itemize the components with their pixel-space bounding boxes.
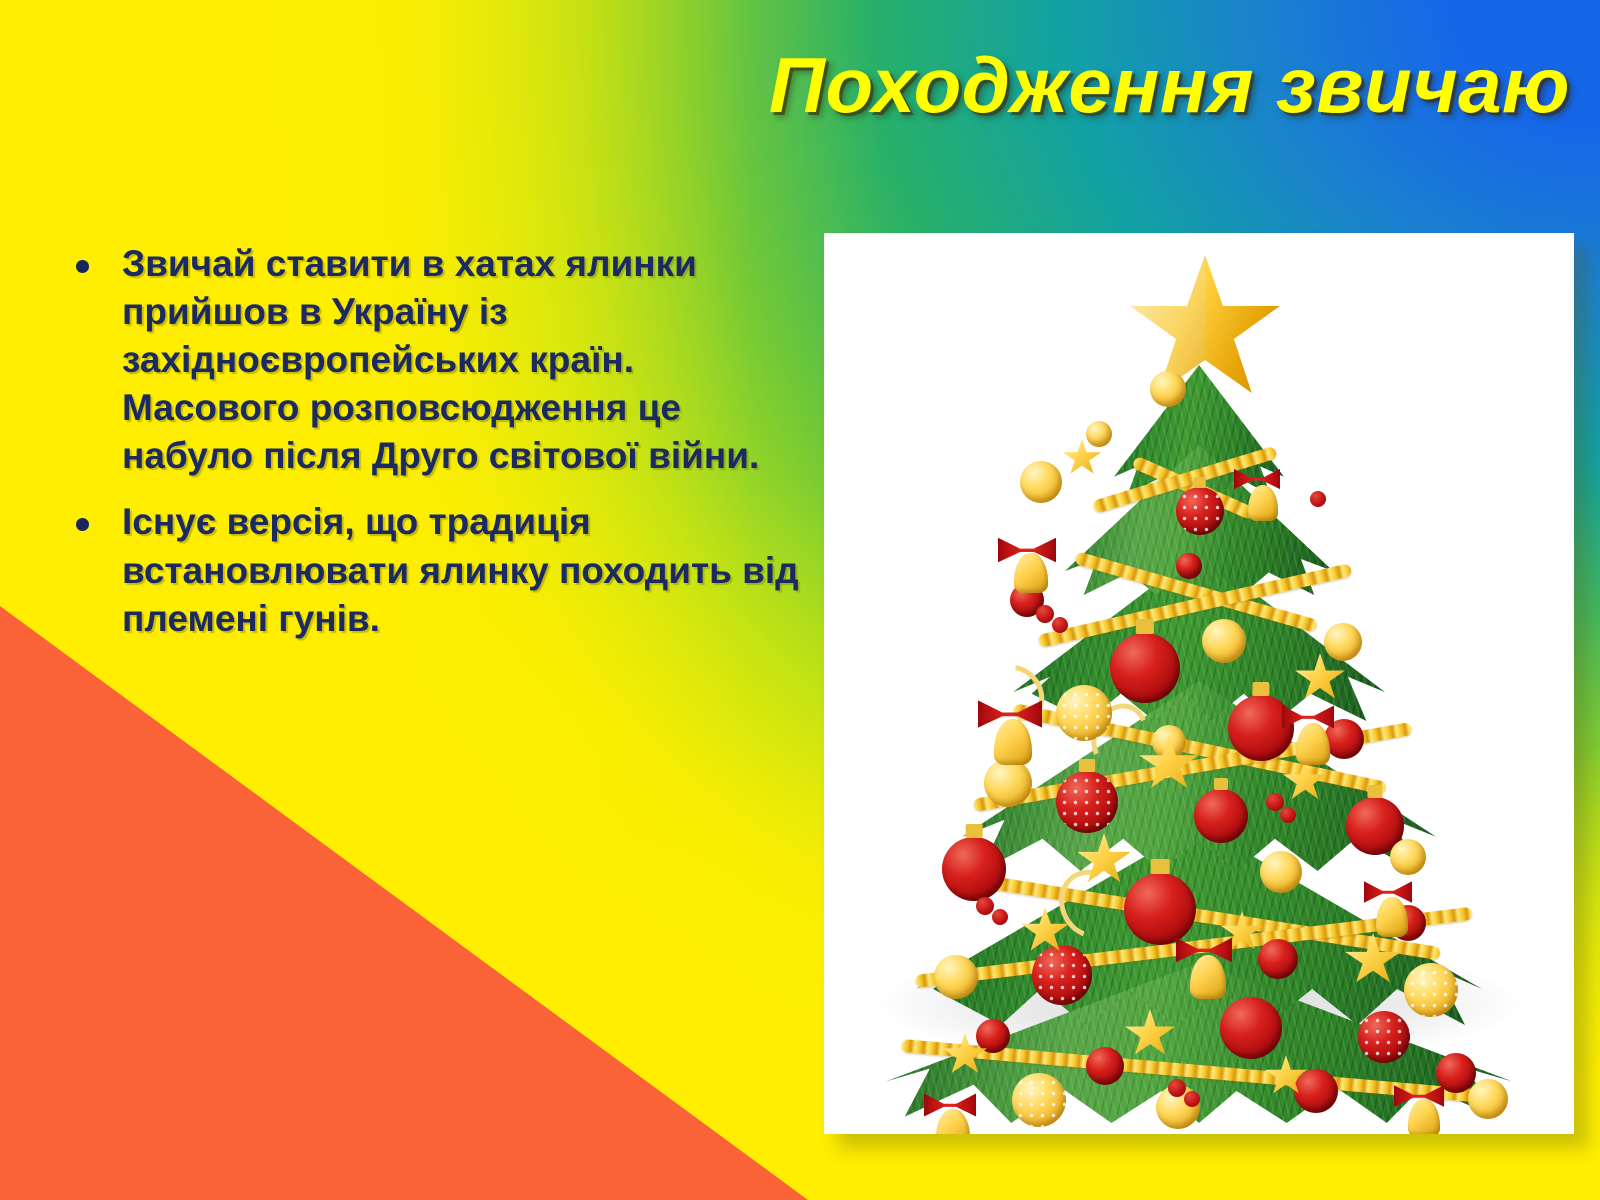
- gold-bell-ornament: [1248, 485, 1278, 521]
- red-bauble: [1086, 1047, 1124, 1085]
- gold-bauble: [1020, 461, 1062, 503]
- gold-bauble: [934, 955, 978, 999]
- gold-bauble: [1012, 1073, 1066, 1127]
- gold-bauble: [1390, 839, 1426, 875]
- slide: Походження звичаю Звичай ставити в хатах…: [0, 0, 1600, 1200]
- bullet-point-icon: [60, 240, 122, 273]
- slide-title: Походження звичаю: [640, 46, 1570, 126]
- gold-bauble: [1324, 623, 1362, 661]
- list-item: Існує версія, що традиція встановлювати …: [60, 498, 800, 642]
- christmas-tree-graphic: [824, 233, 1574, 1134]
- red-berry: [1168, 1079, 1186, 1097]
- gold-bauble: [984, 759, 1032, 807]
- red-bauble: [1194, 789, 1248, 843]
- red-berry: [1266, 793, 1284, 811]
- red-bauble: [976, 1019, 1010, 1053]
- gold-bell-ornament: [1296, 723, 1330, 765]
- red-berry: [976, 897, 994, 915]
- red-bauble: [1056, 771, 1118, 833]
- red-bauble: [1228, 695, 1294, 761]
- red-berry: [1310, 491, 1326, 507]
- red-bauble: [1176, 553, 1202, 579]
- red-berry: [1036, 605, 1054, 623]
- bullet-point-icon: [60, 498, 122, 531]
- red-bauble: [1176, 487, 1224, 535]
- christmas-tree-image: [824, 233, 1574, 1134]
- gold-bell-ornament: [1376, 897, 1408, 937]
- gold-bauble: [1404, 963, 1458, 1017]
- red-berry: [1280, 807, 1296, 823]
- red-bauble: [1124, 873, 1196, 945]
- red-bauble: [1110, 633, 1180, 703]
- bullet-list: Звичай ставити в хатах ялинки прийшов в …: [60, 240, 800, 661]
- bullet-text: Існує версія, що традиція встановлювати …: [122, 498, 800, 642]
- gold-bauble: [1468, 1079, 1508, 1119]
- bullet-text: Звичай ставити в хатах ялинки прийшов в …: [122, 240, 800, 480]
- gold-bell-ornament: [994, 719, 1032, 765]
- list-item: Звичай ставити в хатах ялинки прийшов в …: [60, 240, 800, 480]
- red-bauble: [1220, 997, 1282, 1059]
- gold-bell-ornament: [936, 1109, 970, 1134]
- gold-bauble: [1056, 685, 1112, 741]
- gold-bauble: [1150, 371, 1186, 407]
- red-bauble: [1294, 1069, 1338, 1113]
- gold-bell-ornament: [1408, 1099, 1440, 1134]
- gold-bauble: [1202, 619, 1246, 663]
- red-bauble: [942, 837, 1006, 901]
- gold-bauble: [1086, 421, 1112, 447]
- red-bauble: [1358, 1011, 1410, 1063]
- gold-bauble: [1260, 851, 1302, 893]
- red-bauble: [1032, 945, 1092, 1005]
- red-bauble: [1258, 939, 1298, 979]
- red-berry: [1052, 617, 1068, 633]
- red-berry: [1184, 1091, 1200, 1107]
- gold-bell-ornament: [1014, 553, 1048, 593]
- red-berry: [992, 909, 1008, 925]
